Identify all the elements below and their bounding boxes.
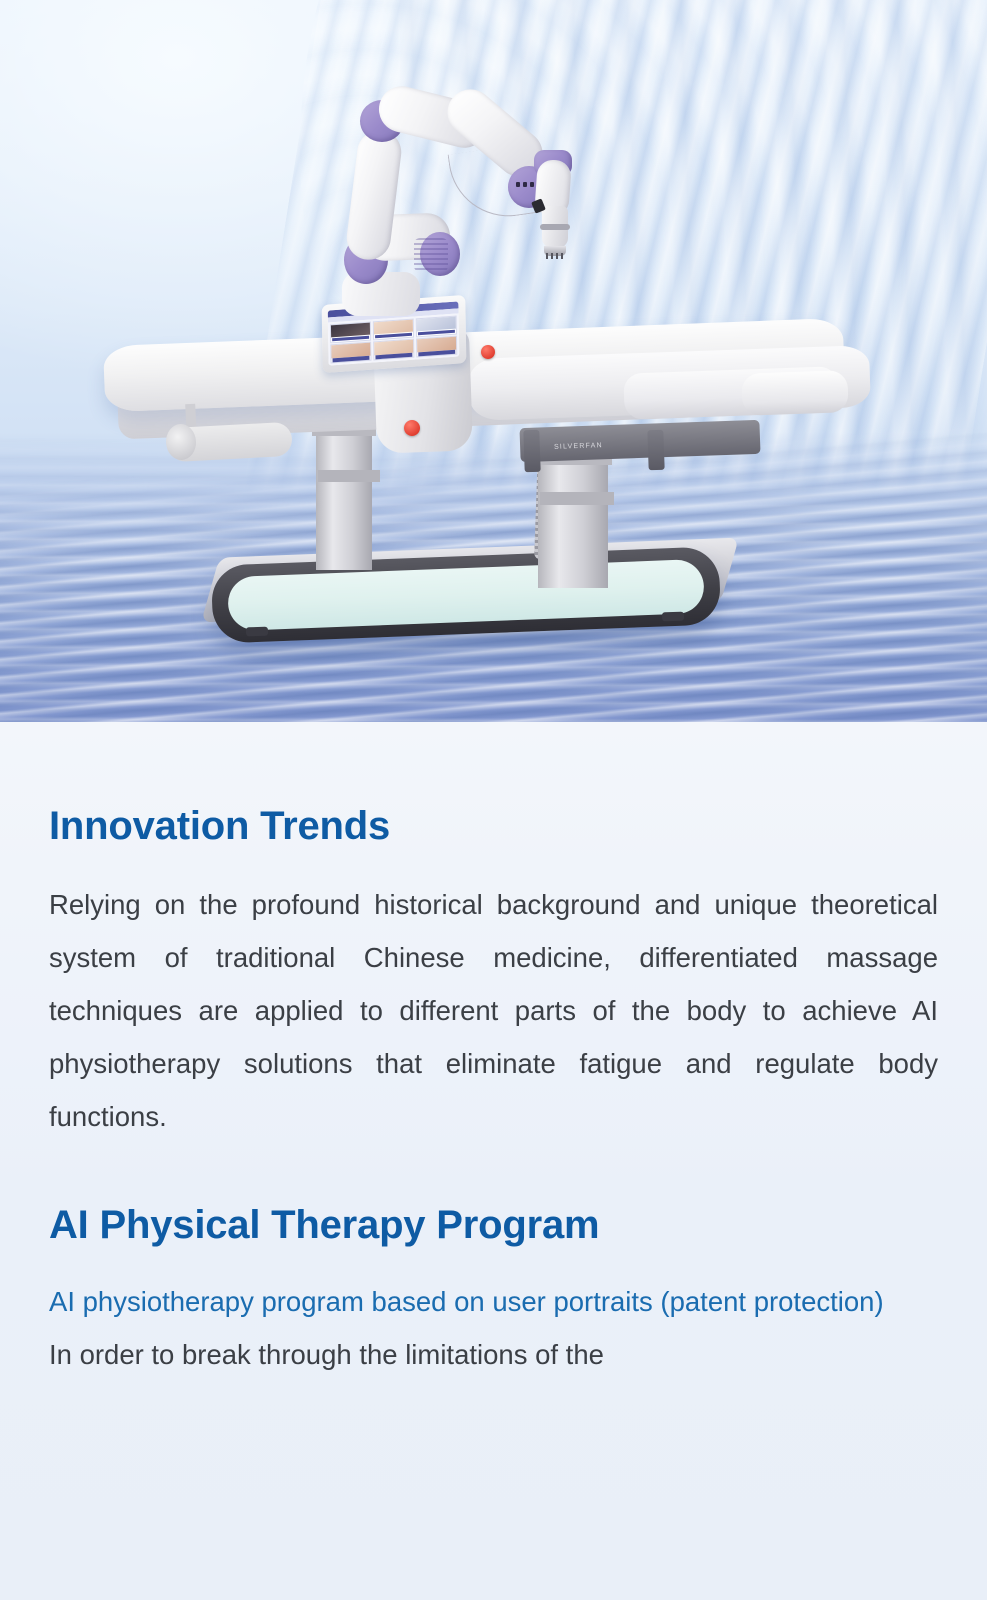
screen-card[interactable] (373, 319, 415, 341)
innovation-paragraph: Relying on the profound historical backg… (49, 878, 938, 1143)
base-foot (246, 627, 268, 637)
screen-card[interactable] (415, 316, 457, 338)
page-title-innovation: Innovation Trends (49, 722, 938, 848)
table-cushion-pillow-small (741, 370, 848, 416)
emergency-stop-button[interactable] (404, 420, 420, 436)
robot-arm-status-leds (516, 182, 534, 187)
hero-image: SILVERFAN (0, 0, 987, 722)
content-section: Innovation Trends Relying on the profoun… (0, 722, 987, 1600)
end-effector-ring (540, 224, 570, 230)
program-tail-paragraph: In order to break through the limitation… (49, 1328, 938, 1381)
screen-card-grid (328, 313, 459, 365)
emergency-stop-button[interactable] (481, 345, 495, 359)
screen-card[interactable] (330, 322, 372, 344)
screen-card[interactable] (330, 342, 372, 364)
robot-arm-joint-ridges (414, 238, 448, 272)
base-foot (662, 612, 684, 622)
frame-bracket (523, 430, 540, 473)
screen-card[interactable] (416, 336, 458, 358)
massage-table: SILVERFAN (0, 0, 987, 722)
table-frame (519, 420, 760, 462)
frame-bracket (647, 430, 664, 471)
lift-column-right (538, 448, 608, 588)
page-title-program: AI Physical Therapy Program (49, 1143, 938, 1247)
screen-card[interactable] (373, 339, 415, 361)
lift-column-left (316, 420, 372, 570)
lift-column-right-collar (540, 492, 614, 505)
lift-column-left-collar (318, 470, 380, 482)
end-effector-tip (544, 246, 566, 256)
program-accent-paragraph: AI physiotherapy program based on user p… (49, 1275, 938, 1328)
product-page: SILVERFAN (0, 0, 987, 1600)
